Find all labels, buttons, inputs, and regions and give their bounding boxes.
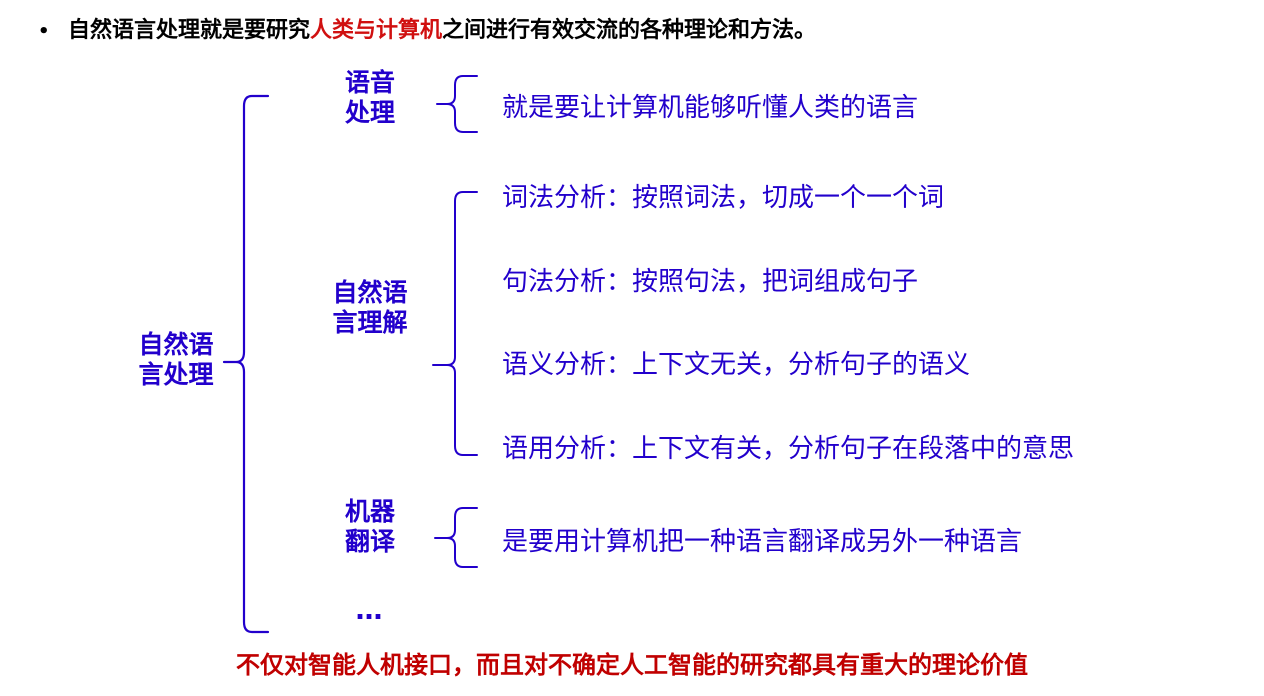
more-branches-ellipsis: … <box>315 595 425 626</box>
leaf-nlu-pragmatic: 语用分析：上下文有关，分析句子在段落中的意思 <box>502 428 1074 465</box>
branch-label-mt: 机器 翻译 <box>305 497 435 556</box>
leaf-nlu-semantic: 语义分析：上下文无关，分析句子的语义 <box>502 344 970 381</box>
headline-part1: 自然语言处理就是要研究 <box>68 18 310 43</box>
branch-brace-nlu <box>433 192 477 455</box>
root-node-label: 自然语 言处理 <box>96 330 256 389</box>
headline-part2: 之间进行有效交流的各种理论和方法。 <box>442 18 816 43</box>
conclusion-text: 不仅对智能人机接口，而且对不确定人工智能的研究都具有重大的理论价值 <box>0 645 1264 680</box>
branch-brace-speech <box>437 76 477 132</box>
bullet-icon: • <box>38 21 68 42</box>
headline-highlight: 人类与计算机 <box>310 18 442 43</box>
leaf-nlu-syntactic: 句法分析：按照句法，把词组成句子 <box>502 261 918 298</box>
leaf-nlu-lexical: 词法分析：按照词法，切成一个一个词 <box>502 177 944 214</box>
branch-brace-mt <box>435 508 477 567</box>
branch-label-nlu: 自然语 言理解 <box>305 278 435 337</box>
leaf-mt-1: 是要用计算机把一种语言翻译成另外一种语言 <box>502 521 1022 558</box>
branch-label-speech: 语音 处理 <box>305 68 435 127</box>
leaf-speech-1: 就是要让计算机能够听懂人类的语言 <box>502 87 918 124</box>
headline: •自然语言处理就是要研究人类与计算机之间进行有效交流的各种理论和方法。 <box>38 12 1238 44</box>
slide-canvas: •自然语言处理就是要研究人类与计算机之间进行有效交流的各种理论和方法。 自然语 … <box>0 0 1264 696</box>
